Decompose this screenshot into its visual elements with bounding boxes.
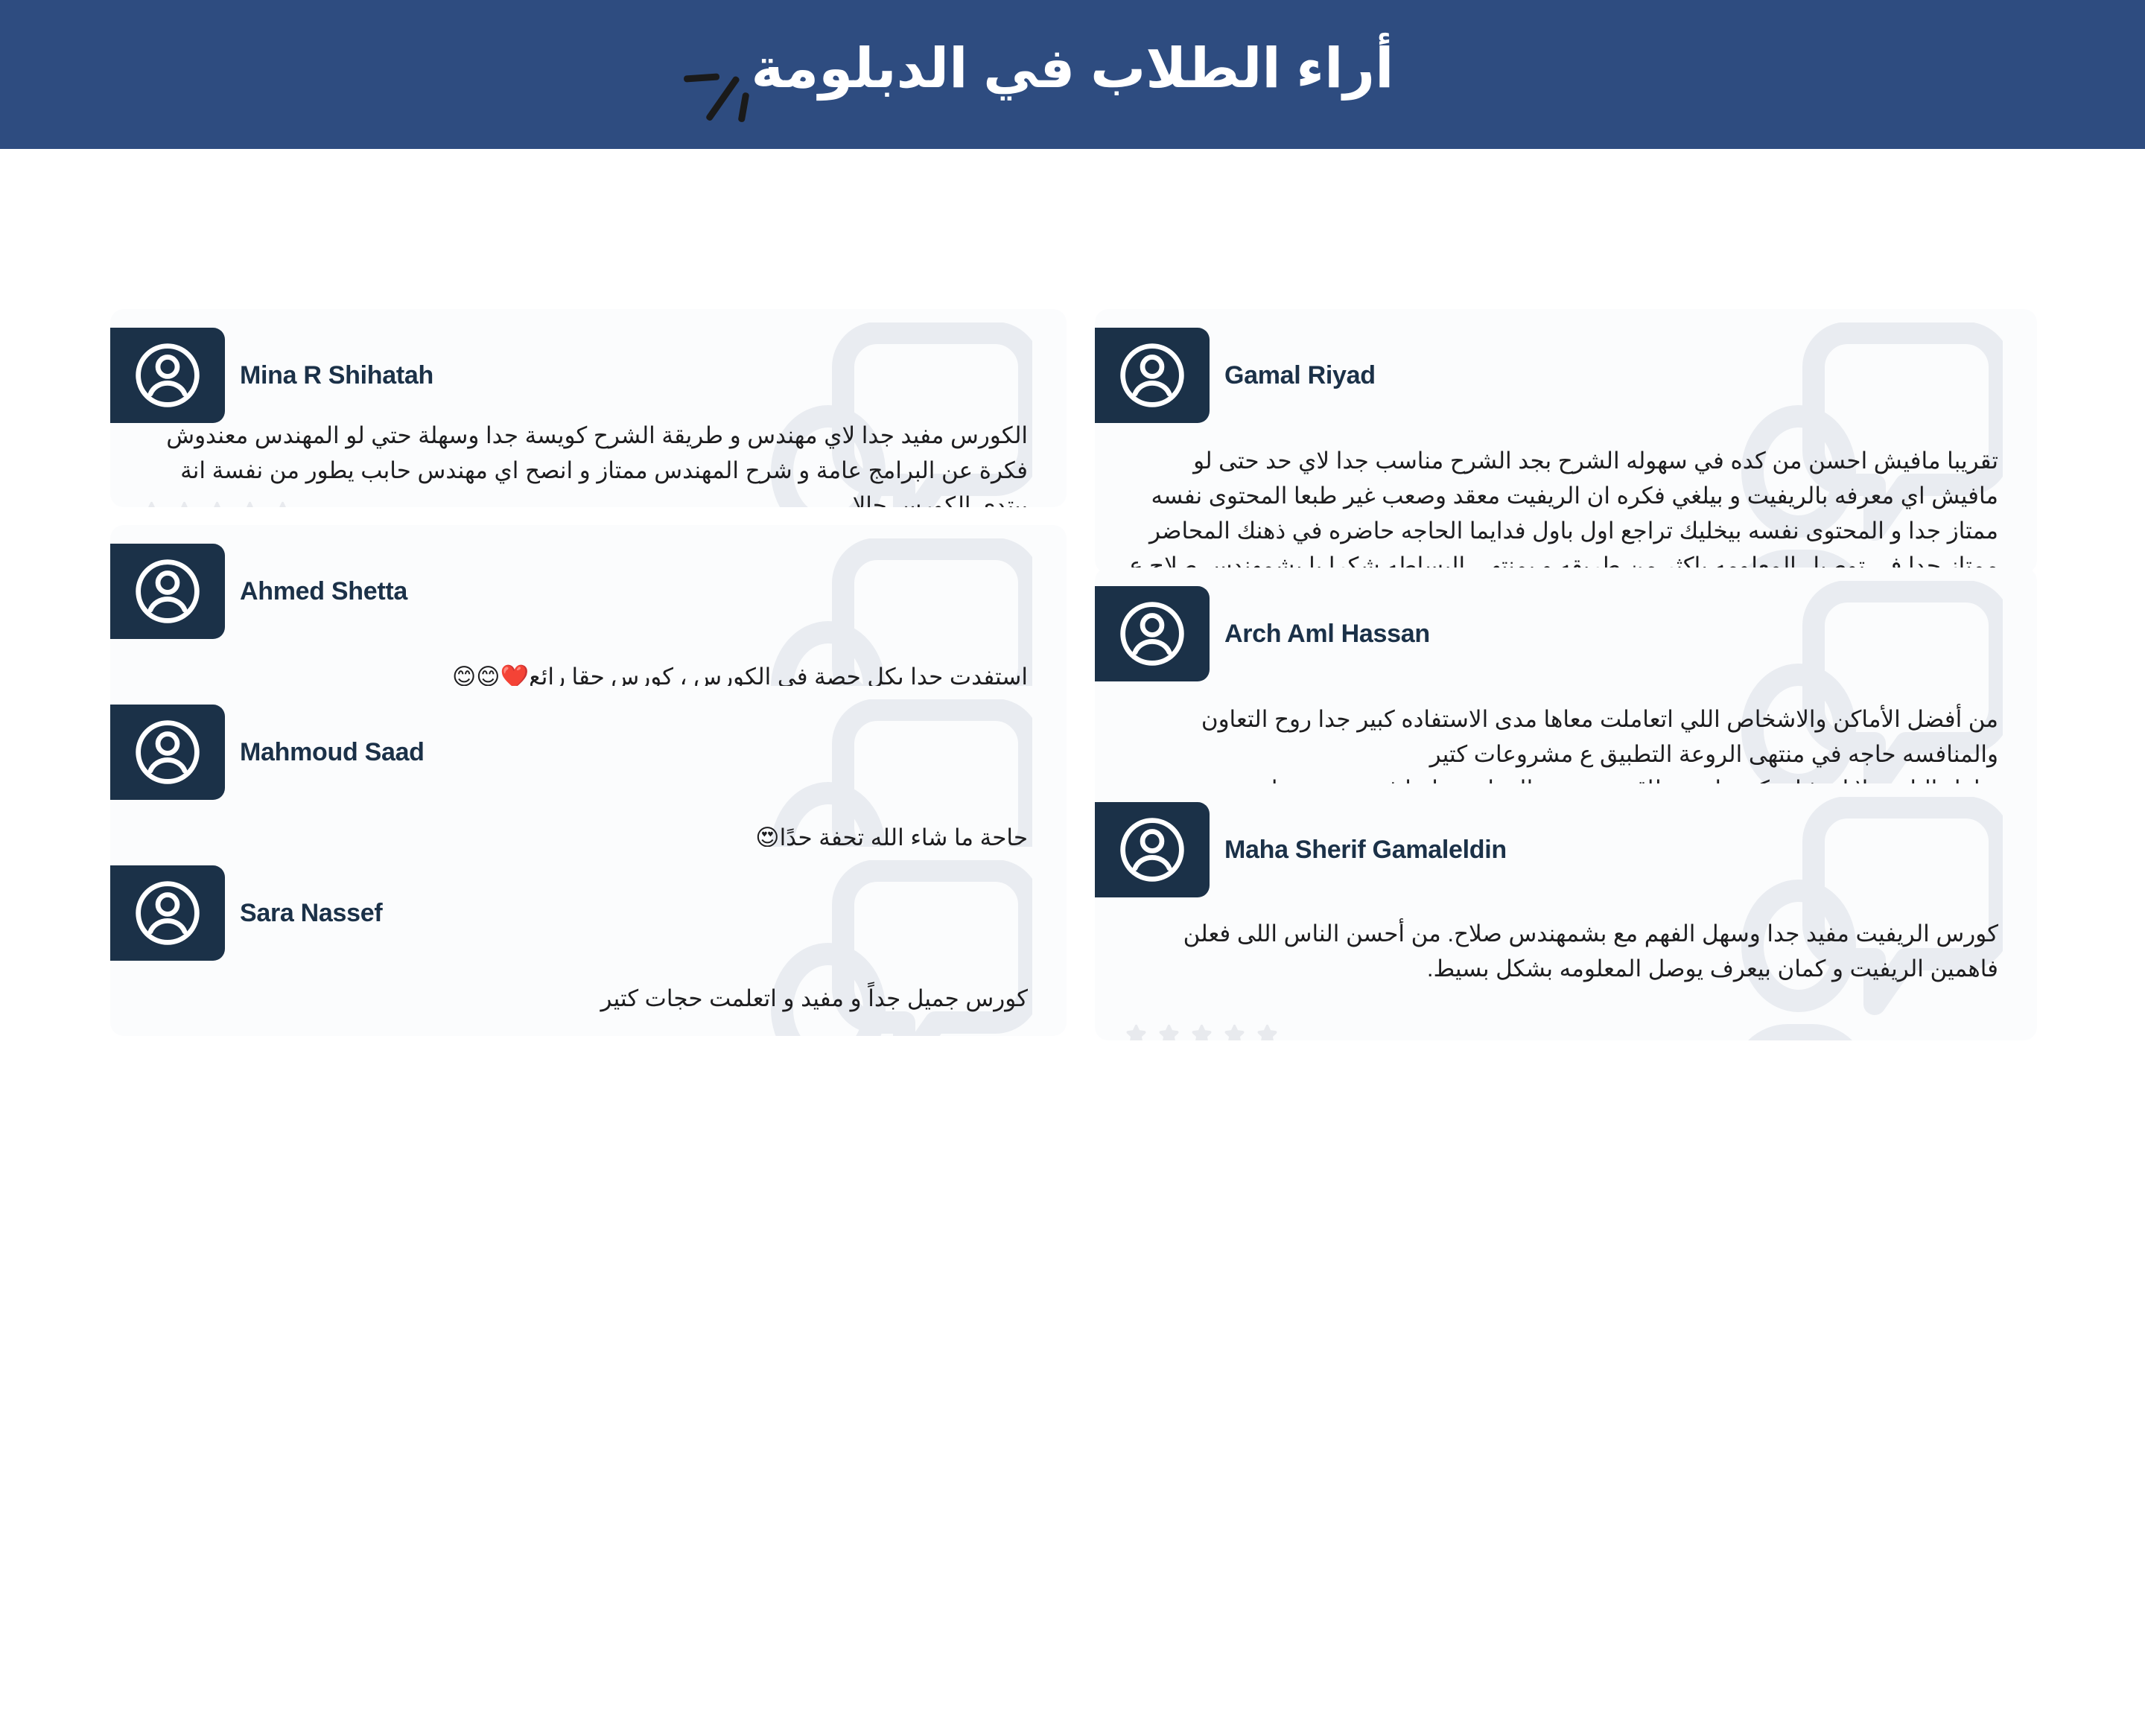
testimonial-card[interactable]: Sara Nassef كورس جميل جداً و مفيد و اتعل… xyxy=(110,847,1067,1036)
rating-stars[interactable] xyxy=(139,499,296,507)
user-circle-icon xyxy=(132,340,203,411)
reviewer-name: Mina R Shihatah xyxy=(240,328,433,423)
testimonials-board: Mina R Shihatah الكورس مفيد جدا لاي مهند… xyxy=(0,149,2145,1736)
page-title: أراء الطلاب في الدبلومة xyxy=(751,36,1394,101)
page-header: أراء الطلاب في الدبلومة xyxy=(0,0,2145,149)
avatar xyxy=(1095,328,1210,423)
reviewer-name: Gamal Riyad xyxy=(1224,328,1376,423)
reviewer-name: Sara Nassef xyxy=(240,865,382,961)
star-icon xyxy=(270,499,296,507)
star-icon xyxy=(204,499,230,507)
star-icon xyxy=(1123,1022,1149,1040)
user-circle-icon xyxy=(1116,814,1188,886)
testimonial-card[interactable]: Gamal Riyad تقريبا مافيش احسن من كده في … xyxy=(1095,309,2037,573)
star-icon xyxy=(237,499,263,507)
avatar xyxy=(110,544,225,639)
avatar xyxy=(110,328,225,423)
reviewer-name: Maha Sherif Gamaleldin xyxy=(1224,802,1507,897)
user-circle-icon xyxy=(1116,340,1188,411)
reviewer-name: Arch Aml Hassan xyxy=(1224,586,1430,681)
star-icon xyxy=(1221,1022,1248,1040)
review-text: كورس الريفيت مفيد جدا وسهل الفهم مع بشمه… xyxy=(1125,916,1998,986)
reviewer-name: Mahmoud Saad xyxy=(240,705,425,800)
user-circle-icon xyxy=(132,877,203,949)
testimonial-card[interactable]: Mina R Shihatah الكورس مفيد جدا لاي مهند… xyxy=(110,309,1067,507)
star-icon xyxy=(1254,1022,1280,1040)
rating-stars[interactable] xyxy=(1123,1022,1280,1040)
review-text: تقريبا مافيش احسن من كده في سهوله الشرح … xyxy=(1125,443,1998,573)
star-icon xyxy=(1156,1022,1182,1040)
avatar xyxy=(110,705,225,800)
user-circle-icon xyxy=(132,716,203,788)
avatar xyxy=(1095,802,1210,897)
avatar xyxy=(1095,586,1210,681)
star-icon xyxy=(139,499,165,507)
review-text: الكورس مفيد جدا لاي مهندس و طريقة الشرح … xyxy=(140,418,1028,507)
review-text: كورس جميل جداً و مفيد و اتعلمت حجات كتير xyxy=(140,981,1028,1016)
star-icon xyxy=(171,499,197,507)
star-icon xyxy=(1189,1022,1215,1040)
testimonial-card[interactable]: Maha Sherif Gamaleldin كورس الريفيت مفيد… xyxy=(1095,783,2037,1040)
avatar xyxy=(110,865,225,961)
user-circle-icon xyxy=(132,556,203,627)
reviewer-name: Ahmed Shetta xyxy=(240,544,407,639)
user-circle-icon xyxy=(1116,598,1188,670)
